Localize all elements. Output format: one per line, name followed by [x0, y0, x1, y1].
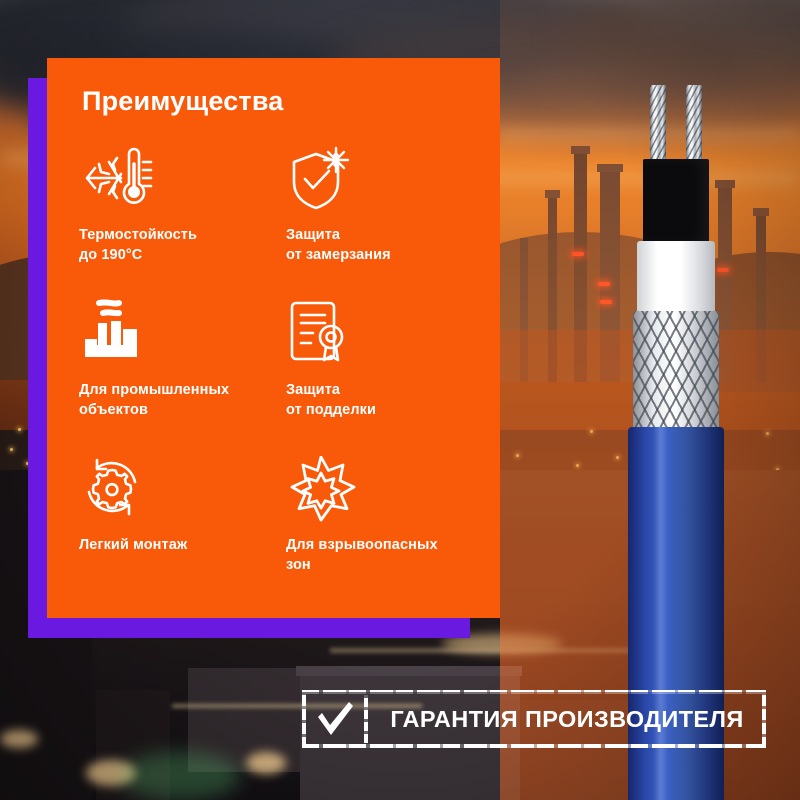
- stamp-label: ГАРАНТИЯ ПРОИЗВОДИТЕЛЯ: [378, 690, 756, 748]
- feature-label: Для промышленных объектов: [79, 381, 286, 420]
- feature-label: Защита от подделки: [286, 381, 479, 420]
- gear-refresh-icon: [79, 450, 286, 522]
- feature-item: Для взрывоопасных зон: [286, 450, 479, 605]
- feature-label: Легкий монтаж: [79, 536, 286, 556]
- feature-item: Легкий монтаж: [79, 450, 286, 605]
- feature-item: Защита от подделки: [286, 295, 479, 450]
- guarantee-stamp: ГАРАНТИЯ ПРОИЗВОДИТЕЛЯ: [302, 690, 766, 748]
- thermometer-snowflake-icon: [79, 140, 286, 212]
- insulation-layer: [637, 241, 715, 313]
- braided-shield-layer: [633, 311, 719, 431]
- shield-snowflake-check-icon: [286, 140, 479, 212]
- features-row: Термостойкость до 190°C Защита от замерз…: [79, 140, 479, 295]
- feature-item: Защита от замерзания: [286, 140, 479, 295]
- features-row: Легкий монтаж Для взрывоопасных зон: [79, 450, 479, 605]
- bus-conductor: [686, 85, 702, 163]
- explosion-burst-icon: [286, 450, 479, 522]
- feature-item: Термостойкость до 190°C: [79, 140, 286, 295]
- checkmark-icon: [316, 701, 354, 737]
- features-row: Для промышленных объектов Защита от под: [79, 295, 479, 450]
- conductive-core-layer: [643, 159, 709, 243]
- feature-label: Термостойкость до 190°C: [79, 226, 286, 265]
- card-title: Преимущества: [82, 86, 284, 117]
- certificate-seal-icon: [286, 295, 479, 367]
- feature-label: Защита от замерзания: [286, 226, 479, 265]
- feature-item: Для промышленных объектов: [79, 295, 286, 450]
- features-grid: Термостойкость до 190°C Защита от замерз…: [79, 140, 479, 605]
- promo-banner: Преимущества Термост: [0, 0, 800, 800]
- bus-conductor: [650, 85, 666, 163]
- stamp-divider: [364, 695, 368, 743]
- factory-icon: [79, 295, 286, 367]
- feature-label: Для взрывоопасных зон: [286, 536, 479, 575]
- advantages-card: Преимущества Термост: [47, 58, 500, 618]
